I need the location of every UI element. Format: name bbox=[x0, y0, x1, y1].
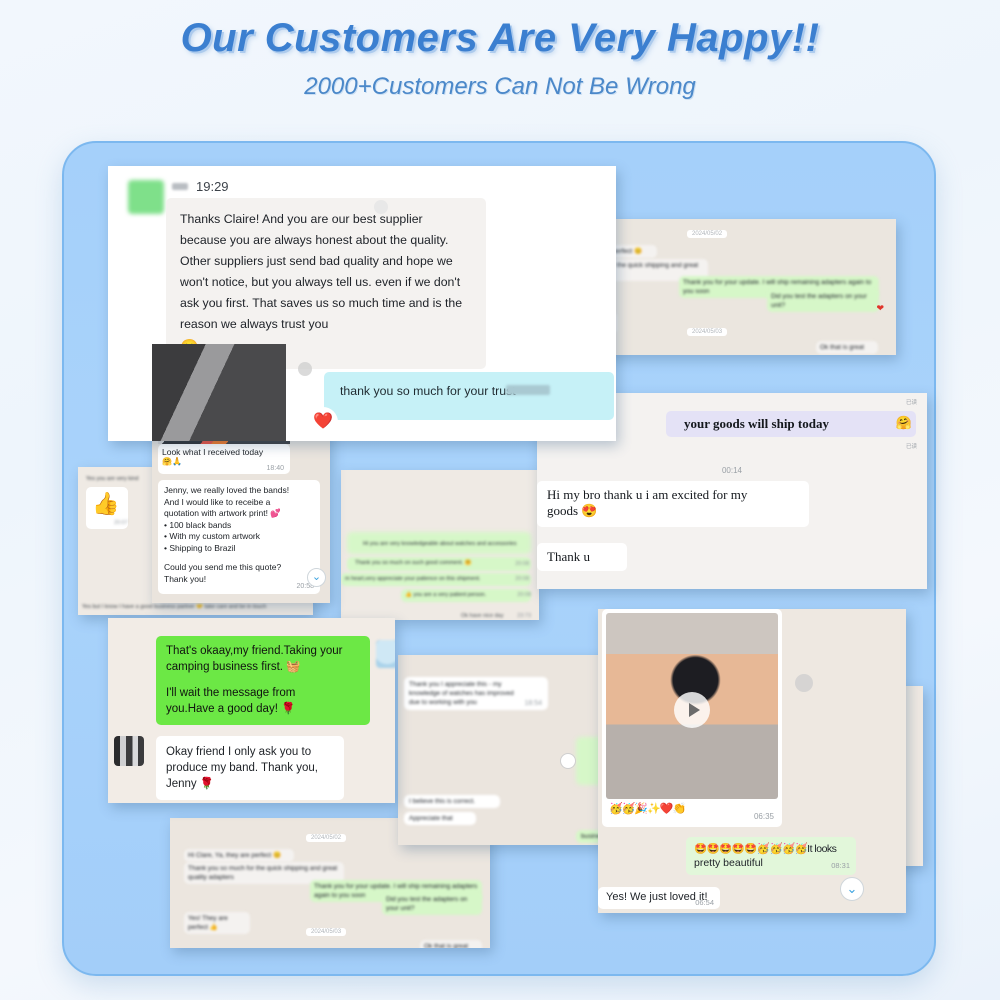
message-line: 🤩🤩🤩🤩🤩🥳🥳🥳🥳It looks bbox=[694, 842, 848, 856]
message-line: pretty beautiful bbox=[694, 856, 848, 870]
heart-icon: ❤️ bbox=[313, 411, 333, 431]
chat-bubble-incoming: Ok that is great bbox=[816, 341, 878, 354]
message-text: Hi you are very knowledgeable about watc… bbox=[363, 540, 531, 548]
chat-bubble-outgoing: Did you test the adapters on your unit? bbox=[382, 893, 482, 915]
message-line: quotation with artwork print! 💕 bbox=[164, 508, 314, 520]
message-time: 06:54 bbox=[695, 898, 714, 907]
date-stamp: 2024/05/02 bbox=[687, 230, 727, 238]
chat-bubble-outgoing: Did you test the adapters on your unit? bbox=[767, 290, 879, 312]
message-line: Thank you I appreciate this - my bbox=[409, 680, 543, 689]
chat-bubble-incoming: Thank u bbox=[537, 543, 627, 571]
screenshot-camping-chat: That's okaay,my friend.Taking your campi… bbox=[108, 618, 395, 803]
read-badge: 已读 bbox=[906, 443, 917, 451]
message-time: 20:07 bbox=[114, 519, 128, 527]
message-line: And I would like to receibe a bbox=[164, 497, 314, 509]
voice-play-icon[interactable] bbox=[560, 753, 576, 769]
message-text: Thank u bbox=[547, 549, 617, 565]
emoji-reaction-icon[interactable] bbox=[374, 200, 388, 214]
date-stamp: 2024/05/03 bbox=[306, 928, 346, 936]
message-line: you.Have a good day! 🌹 bbox=[166, 702, 360, 718]
message-text: your goods will ship today bbox=[684, 416, 829, 432]
chat-bubble-outgoing: your goods will ship today 🤗 bbox=[666, 411, 916, 437]
quote-request-bubble: Jenny, we really loved the bands! And I … bbox=[158, 480, 320, 594]
chat-bubble-incoming: Hi Clare, Ya, they are perfect 😊 bbox=[184, 849, 294, 862]
message-time: 18:40 bbox=[266, 465, 284, 472]
message-time: 18:54 bbox=[524, 699, 542, 708]
heart-reaction-bubble: ❤️ bbox=[306, 407, 338, 437]
testimonial-text: Thanks Claire! And you are our best supp… bbox=[180, 212, 462, 331]
message-line: produce my band. Thank you, bbox=[166, 760, 334, 776]
video-message-bubble: 🥳🥳🎉✨❤️👏 06:35 bbox=[602, 609, 782, 827]
message-text: Ok have nice day bbox=[461, 612, 504, 620]
bullet-item: • 100 black bands bbox=[164, 520, 314, 532]
contact-avatar bbox=[114, 736, 144, 766]
message-time: 20:08 bbox=[517, 591, 531, 599]
chat-bubble-incoming: Okay friend I only ask you to produce my… bbox=[156, 736, 344, 800]
scroll-down-icon[interactable]: ⌄ bbox=[307, 568, 326, 587]
play-icon[interactable] bbox=[674, 692, 710, 728]
sticker-avatar bbox=[376, 640, 395, 668]
contact-avatar bbox=[128, 180, 164, 214]
screenshot-main-testimonial: 19:29 Thanks Claire! And you are our bes… bbox=[108, 166, 616, 441]
message-time: 23:73 bbox=[517, 612, 531, 620]
laptop-photo bbox=[152, 344, 286, 441]
chat-bubble-incoming: Hi my bro thank u i am excited for my go… bbox=[537, 481, 809, 527]
thumbs-up-icon: 👍 bbox=[92, 491, 119, 517]
message-text: m heart,very appreciate your patience on… bbox=[345, 575, 480, 583]
message-time: 20:08 bbox=[515, 575, 529, 583]
message-line: goods 😍 bbox=[547, 503, 799, 519]
date-stamp: 2024/05/03 bbox=[687, 328, 727, 336]
redacted-name bbox=[506, 385, 550, 395]
message-line: Jenny, we really loved the bands! bbox=[164, 485, 314, 497]
message-time: 06:35 bbox=[754, 812, 774, 821]
page-title: Our Customers Are Very Happy!! bbox=[0, 0, 1000, 61]
message-line: I'll wait the message from bbox=[166, 686, 360, 702]
photo-caption: Look what I received today bbox=[158, 444, 290, 457]
message-line: Jenny 🌹 bbox=[166, 776, 334, 792]
page-subtitle: 2000+Customers Can Not Be Wrong bbox=[0, 61, 1000, 101]
chat-bubble-incoming: Yes! We just loved it! 06:54 bbox=[598, 887, 720, 909]
chat-bubble-outgoing: 🤩🤩🤩🤩🤩🥳🥳🥳🥳It looks pretty beautiful 08:31 bbox=[686, 837, 856, 875]
message-line: Could you send me this quote? bbox=[164, 562, 314, 574]
chat-bubble-incoming: Yes! They are perfect 👍 bbox=[184, 912, 250, 934]
hug-emoji: 🤗 bbox=[896, 415, 912, 431]
message-line: due to working with you bbox=[409, 698, 543, 707]
scroll-down-icon[interactable]: ⌄ bbox=[840, 877, 864, 901]
chat-bubble-incoming: Appreciate that bbox=[404, 812, 476, 825]
screenshot-watch-video: 🥳🥳🎉✨❤️👏 06:35 🤩🤩🤩🤩🤩🥳🥳🥳🥳It looks pretty b… bbox=[598, 609, 906, 913]
message-line: That's okaay,my friend.Taking your bbox=[166, 644, 360, 660]
message-time: 19:29 bbox=[196, 179, 229, 194]
message-text: 👍 you are a very patient person. bbox=[405, 591, 486, 599]
bullet-item: • Shipping to Brazil bbox=[164, 543, 314, 555]
page-header: Our Customers Are Very Happy!! 2000+Cust… bbox=[0, 0, 1000, 130]
message-line: Okay friend I only ask you to bbox=[166, 744, 334, 760]
message-text: Yes but I know I have a good business pa… bbox=[82, 603, 310, 611]
contact-name bbox=[172, 183, 188, 190]
message-line: Hi my bro thank u i am excited for my bbox=[547, 487, 799, 503]
chat-bubble-incoming: Thank you I appreciate this - my knowled… bbox=[404, 677, 548, 710]
forward-icon[interactable] bbox=[298, 362, 312, 376]
conversation-timestamp: 00:14 bbox=[537, 466, 927, 475]
message-line: camping business first. 🧺 bbox=[166, 660, 360, 676]
reaction-emojis: 🥳🥳🎉✨❤️👏 bbox=[609, 802, 685, 815]
message-text: Yes you are very kind bbox=[86, 475, 138, 483]
heart-reaction: ❤ bbox=[876, 303, 884, 314]
forward-icon[interactable] bbox=[795, 674, 813, 692]
photo-caption-bubble: Look what I received today 🤗🙏 18:40 bbox=[158, 444, 290, 474]
date-stamp: 2024/05/02 bbox=[306, 834, 346, 842]
reply-bubble: thank you so much for your trust bbox=[324, 372, 614, 420]
message-text: Yes! We just loved it! bbox=[606, 891, 708, 903]
message-time: 20:08 bbox=[515, 560, 529, 568]
message-line: Thank you! bbox=[164, 574, 314, 586]
chat-bubble-outgoing: That's okaay,my friend.Taking your campi… bbox=[156, 636, 370, 725]
screenshot-patient-chat: Hi you are very knowledgeable about watc… bbox=[341, 470, 539, 620]
message-text: Thank you so much on such good comment. … bbox=[355, 559, 472, 567]
message-time: 08:31 bbox=[831, 859, 850, 873]
bullet-item: • With my custom artwork bbox=[164, 531, 314, 543]
message-line: knowledge of watches has improved bbox=[409, 689, 543, 698]
chat-bubble-incoming: Ok that is great bbox=[420, 940, 482, 948]
read-badge: 已读 bbox=[906, 399, 917, 407]
chat-bubble-incoming: I believe this is correct. bbox=[404, 795, 500, 808]
reply-text: thank you so much for your trust bbox=[340, 384, 516, 398]
